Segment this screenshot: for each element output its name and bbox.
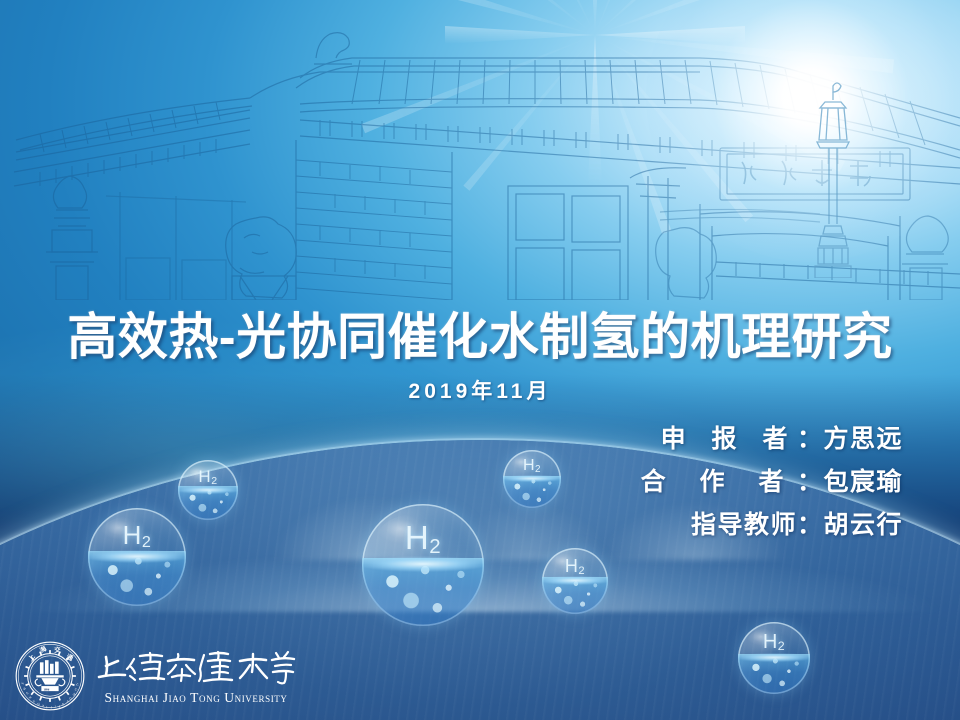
svg-text:H: H — [37, 702, 41, 707]
svg-text:G: G — [32, 699, 36, 704]
credit-name: 包宸瑜 — [823, 468, 903, 496]
logo-wordmark: Shanghai Jiao Tong University — [96, 647, 296, 706]
logo-name-en: Shanghai Jiao Tong University — [96, 690, 296, 706]
svg-text:H: H — [22, 686, 27, 691]
hydrogen-bubble: H2 — [738, 622, 810, 694]
svg-text:I: I — [46, 705, 47, 709]
credit-separator: ： — [797, 425, 824, 453]
street-lamp-icon — [798, 78, 868, 278]
hydrogen-bubble: H2 — [178, 460, 238, 520]
svg-text:N: N — [28, 695, 33, 700]
hydrogen-bubble: H2 — [503, 450, 561, 508]
logo-name-cn-icon — [96, 647, 296, 689]
hydrogen-bubble: H2 — [542, 548, 608, 614]
svg-text:U: U — [75, 683, 80, 687]
university-logo: 上 海 交 通 S H A N G H A I J I A O T O — [14, 640, 296, 712]
credit-role: 指导教师 — [691, 511, 797, 539]
credit-name: 胡云行 — [823, 511, 903, 539]
svg-text:A: A — [25, 690, 30, 695]
svg-text:S: S — [21, 682, 25, 685]
credit-role: 合 作 者 — [641, 468, 797, 496]
credit-line-collaborator: 合 作 者：包宸瑜 — [641, 461, 903, 504]
hydrogen-bubble: H2 — [88, 508, 186, 606]
presentation-title-slide: H2 H2 H2 H2 H2 — [0, 0, 960, 720]
credit-separator: ： — [797, 468, 824, 496]
svg-text:I: I — [54, 705, 56, 709]
sjtu-seal-icon: 上 海 交 通 S H A N G H A I J I A O T O — [14, 640, 86, 712]
bubble-label: H2 — [88, 522, 186, 548]
credit-role: 申 报 者 — [661, 425, 797, 453]
bubble-label: H2 — [503, 458, 561, 474]
credit-line-presenter: 申 报 者：方思远 — [641, 418, 903, 461]
hydrogen-bubble: H2 — [362, 504, 484, 626]
credits-block: 申 报 者：方思远 合 作 者：包宸瑜 指导教师：胡云行 — [641, 418, 903, 547]
bubble-label: H2 — [738, 632, 810, 652]
bubble-label: H2 — [542, 557, 608, 575]
credit-separator: ： — [797, 511, 824, 539]
bubble-label: H2 — [178, 468, 238, 485]
credit-name: 方思远 — [823, 425, 903, 453]
bubble-label: H2 — [362, 521, 484, 554]
presentation-date: 2019年11月 — [0, 375, 960, 405]
page-title: 高效热-光协同催化水制氢的机理研究 — [0, 297, 960, 369]
svg-text:1896: 1896 — [44, 687, 50, 691]
credit-line-advisor: 指导教师：胡云行 — [641, 504, 903, 547]
